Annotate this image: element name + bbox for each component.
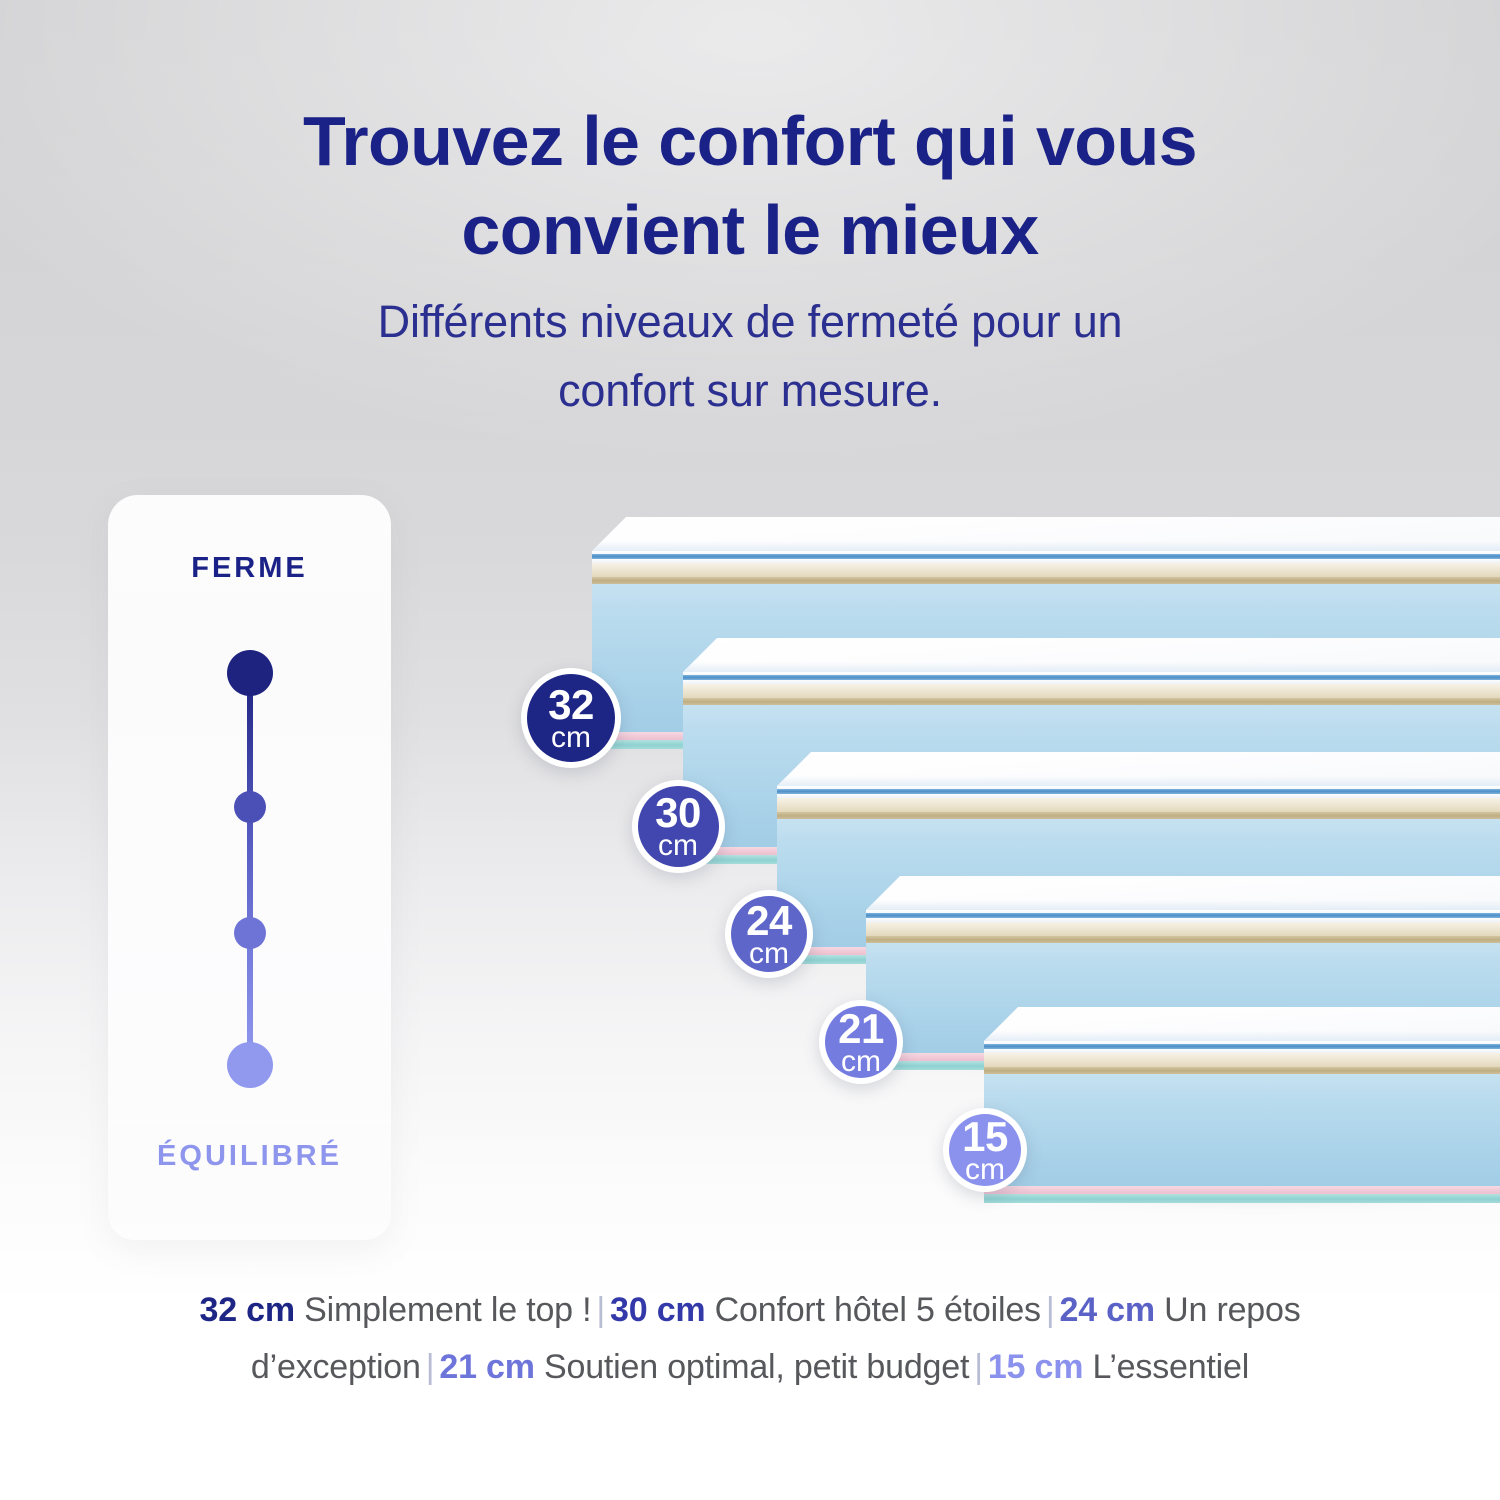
- firmness-dot-equilibre[interactable]: [227, 1042, 273, 1088]
- mattress-top-surface: [866, 876, 1500, 910]
- caption-separator: |: [969, 1348, 988, 1386]
- badge-size-value: 32: [548, 684, 594, 726]
- firmness-label-balanced: ÉQUILIBRÉ: [108, 1140, 391, 1173]
- caption-text-30cm: Confort hôtel 5 étoiles: [705, 1291, 1040, 1329]
- mattress-top-surface: [683, 638, 1500, 672]
- caption-separator: |: [591, 1291, 610, 1329]
- caption-separator: |: [1041, 1291, 1060, 1329]
- badge-21cm[interactable]: 21cm: [819, 1000, 903, 1084]
- badge-30cm[interactable]: 30cm: [632, 780, 725, 873]
- badge-size-unit: cm: [658, 831, 698, 861]
- mint-base-layer: [984, 1194, 1500, 1203]
- caption-legend: 32 cm Simplement le top !|30 cm Confort …: [90, 1282, 1410, 1396]
- caption-text-32cm: Simplement le top !: [295, 1291, 591, 1329]
- badge-size-value: 15: [962, 1116, 1008, 1158]
- firmness-label-firm: FERME: [108, 552, 391, 585]
- cream-foam-layer: [984, 1053, 1500, 1067]
- badge-size-value: 24: [746, 900, 792, 942]
- mattress-top-surface: [984, 1007, 1500, 1041]
- tan-foam-layer: [984, 1067, 1500, 1074]
- mattress-top-surface: [777, 752, 1500, 786]
- firmness-dot-level-3[interactable]: [234, 917, 266, 949]
- tan-foam-layer: [866, 936, 1500, 943]
- tan-foam-layer: [592, 577, 1500, 584]
- badge-inner-disc: 21cm: [825, 1006, 897, 1078]
- tan-foam-layer: [683, 698, 1500, 705]
- cream-foam-layer: [777, 798, 1500, 812]
- caption-text-15cm: L’essentiel: [1083, 1348, 1249, 1386]
- badge-size-unit: cm: [841, 1047, 881, 1077]
- badge-inner-disc: 32cm: [527, 674, 615, 762]
- badge-size-unit: cm: [749, 939, 789, 969]
- caption-text-21cm: Soutien optimal, petit budget: [535, 1348, 969, 1386]
- badge-24cm[interactable]: 24cm: [725, 890, 813, 978]
- firmness-dot-level-2[interactable]: [234, 791, 266, 823]
- badge-inner-disc: 30cm: [638, 786, 719, 867]
- badge-32cm[interactable]: 32cm: [521, 668, 621, 768]
- badge-inner-disc: 15cm: [949, 1114, 1021, 1186]
- badge-size-unit: cm: [551, 723, 591, 753]
- cream-foam-layer: [866, 922, 1500, 936]
- firmness-scale-line: [247, 673, 253, 1065]
- mattress-front-face: [984, 1041, 1500, 1203]
- badge-size-unit: cm: [965, 1155, 1005, 1185]
- mattress-top-surface: [592, 517, 1500, 551]
- cream-foam-layer: [592, 563, 1500, 577]
- caption-size-21cm: 21 cm: [439, 1348, 534, 1386]
- tan-foam-layer: [777, 812, 1500, 819]
- caption-size-15cm: 15 cm: [988, 1348, 1083, 1386]
- caption-separator: |: [421, 1348, 440, 1386]
- badge-size-value: 30: [655, 792, 701, 834]
- firmness-scale: [249, 655, 251, 1075]
- firmness-dot-ferme[interactable]: [227, 650, 273, 696]
- badge-size-value: 21: [838, 1008, 884, 1050]
- pink-base-layer: [984, 1186, 1500, 1194]
- caption-size-32cm: 32 cm: [200, 1291, 295, 1329]
- badge-inner-disc: 24cm: [731, 896, 807, 972]
- promo-image: Trouvez le confort qui vous convient le …: [0, 0, 1500, 1500]
- cream-foam-layer: [683, 684, 1500, 698]
- caption-size-30cm: 30 cm: [610, 1291, 705, 1329]
- support-core-layer: [984, 1074, 1500, 1186]
- badge-15cm[interactable]: 15cm: [943, 1108, 1027, 1192]
- caption-size-24cm: 24 cm: [1059, 1291, 1154, 1329]
- firmness-card: FERME ÉQUILIBRÉ: [108, 495, 391, 1240]
